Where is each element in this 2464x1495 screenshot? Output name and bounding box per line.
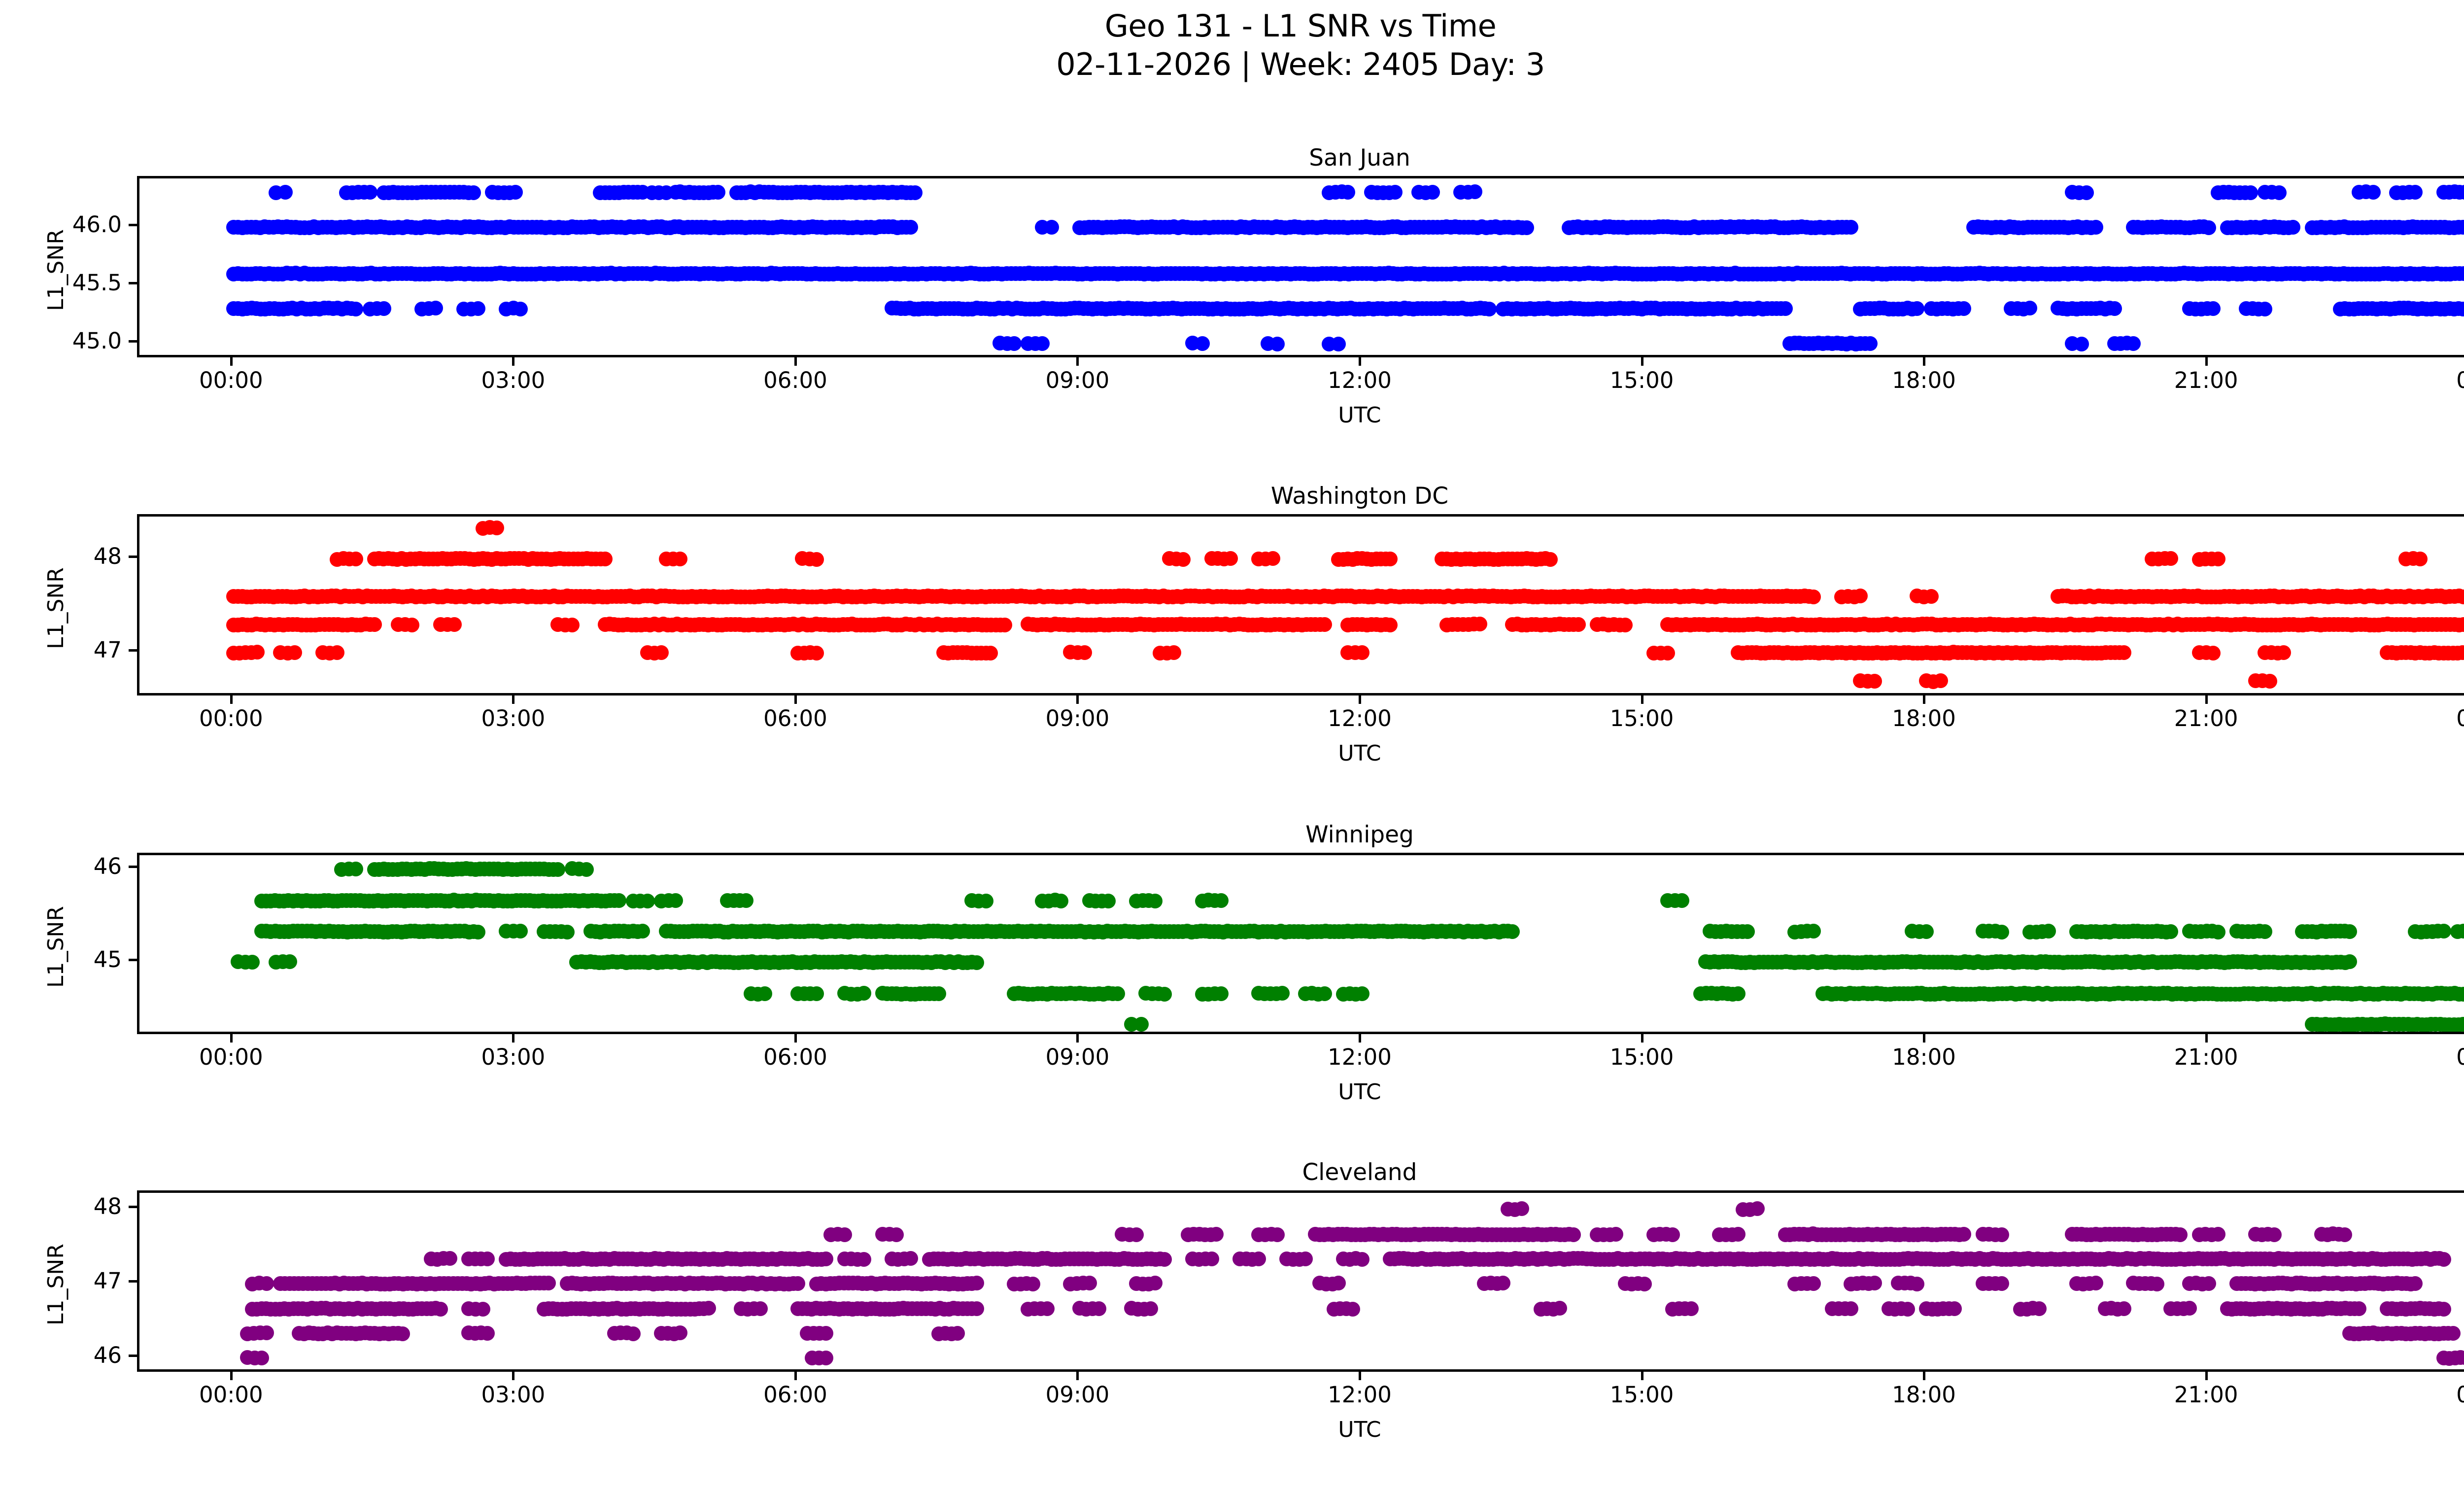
- data-point: [2117, 1301, 2131, 1316]
- x-tick-mark: [1641, 1034, 1643, 1043]
- data-point: [1331, 1276, 1346, 1290]
- data-point: [640, 894, 655, 908]
- data-point: [1806, 1276, 1821, 1291]
- x-tick-label: 15:00: [1543, 707, 1741, 730]
- data-point: [903, 220, 918, 235]
- x-axis-label: UTC: [137, 1079, 2464, 1105]
- data-point: [1472, 617, 1487, 631]
- data-point: [2408, 1276, 2423, 1291]
- x-tick-label: 03:00: [414, 369, 612, 391]
- data-point: [1209, 1227, 1224, 1242]
- data-point: [1731, 986, 1745, 1001]
- x-tick-label: 00:00: [2390, 369, 2464, 391]
- y-axis-label: L1_SNR: [43, 567, 68, 649]
- data-point: [1675, 893, 1689, 908]
- x-tick-mark: [1076, 1034, 1079, 1043]
- x-tick-mark: [794, 357, 797, 366]
- data-point: [1665, 1227, 1680, 1242]
- x-tick-mark: [1359, 357, 1361, 366]
- suptitle-line-1: Geo 131 - L1 SNR vs Time: [0, 7, 2464, 45]
- x-tick-mark: [1923, 357, 1925, 366]
- plot-area: [137, 1190, 2464, 1372]
- data-point: [1778, 301, 1793, 316]
- y-tick-label: 46.0: [23, 213, 122, 236]
- data-point: [443, 1251, 457, 1266]
- subplot-title: Winnipeg: [137, 822, 2464, 848]
- data-point: [1900, 1302, 1915, 1317]
- data-point: [1223, 551, 1238, 566]
- data-point: [2436, 1302, 2451, 1317]
- data-point: [2211, 552, 2225, 566]
- x-tick-mark: [230, 695, 233, 704]
- data-point: [1844, 1301, 1858, 1316]
- data-point: [471, 301, 485, 316]
- data-point: [598, 552, 613, 566]
- y-tick-mark: [129, 556, 137, 558]
- plot-area: [137, 853, 2464, 1034]
- x-tick-mark: [512, 1372, 514, 1380]
- data-point: [2262, 674, 2277, 689]
- x-tick-mark: [1359, 1372, 1361, 1380]
- y-tick-mark: [129, 224, 137, 226]
- data-point: [330, 645, 344, 660]
- data-point: [513, 924, 528, 939]
- x-tick-label: 00:00: [2390, 1384, 2464, 1406]
- data-point: [757, 986, 772, 1001]
- data-point: [1251, 1252, 1266, 1266]
- data-point: [908, 185, 923, 200]
- data-point: [1195, 336, 1210, 351]
- x-tick-label: 00:00: [2390, 1046, 2464, 1068]
- x-tick-mark: [230, 1372, 233, 1380]
- data-point: [1157, 1252, 1172, 1267]
- data-point: [405, 618, 419, 632]
- data-point: [489, 521, 504, 535]
- data-point: [612, 893, 626, 908]
- subplot-title: Cleveland: [137, 1160, 2464, 1185]
- data-point: [287, 645, 302, 660]
- data-point: [1275, 986, 1290, 1001]
- data-point: [282, 954, 297, 969]
- data-point: [471, 925, 485, 939]
- x-tick-label: 03:00: [414, 1046, 612, 1068]
- data-point: [1994, 1276, 2009, 1291]
- subplot-title: Washington DC: [137, 484, 2464, 509]
- x-tick-mark: [2205, 1034, 2208, 1043]
- x-tick-label: 18:00: [1825, 1046, 2022, 1068]
- data-point: [2088, 220, 2103, 235]
- y-tick-mark: [129, 866, 137, 868]
- y-tick-label: 46: [23, 1344, 122, 1366]
- x-tick-label: 21:00: [2108, 1046, 2305, 1068]
- x-tick-label: 00:00: [133, 369, 330, 391]
- data-point: [2163, 924, 2178, 939]
- data-point: [2079, 185, 2094, 200]
- data-point: [1543, 552, 1558, 567]
- data-point: [428, 301, 443, 315]
- data-point: [2276, 645, 2291, 660]
- data-point: [2352, 1301, 2366, 1316]
- data-point: [480, 1326, 495, 1341]
- data-point: [1566, 1227, 1581, 1242]
- data-point: [1740, 924, 1755, 939]
- data-point: [1924, 589, 1939, 604]
- data-point: [2446, 1326, 2461, 1341]
- x-tick-label: 09:00: [979, 369, 1176, 391]
- data-point: [1355, 986, 1369, 1001]
- data-point: [278, 185, 293, 200]
- y-tick-label: 46: [23, 855, 122, 877]
- data-point: [931, 986, 946, 1001]
- data-point: [259, 1325, 274, 1340]
- y-tick-mark: [129, 282, 137, 284]
- data-point: [1731, 1227, 1745, 1242]
- data-point: [1110, 986, 1125, 1001]
- data-point: [1007, 336, 1022, 351]
- y-tick-label: 48: [23, 545, 122, 567]
- data-point: [1383, 618, 1398, 632]
- x-tick-label: 06:00: [697, 1384, 894, 1406]
- data-point: [819, 1252, 833, 1266]
- data-point: [1054, 894, 1068, 908]
- suptitle-line-2: 02-11-2026 | Week: 2405 Day: 3: [0, 45, 2464, 84]
- data-point: [2436, 924, 2451, 939]
- x-tick-label: 00:00: [133, 1046, 330, 1068]
- data-point: [1519, 220, 1534, 235]
- x-tick-label: 21:00: [2108, 369, 2305, 391]
- x-tick-label: 15:00: [1543, 369, 1741, 391]
- data-point: [889, 1227, 904, 1242]
- data-point: [1129, 1227, 1144, 1242]
- data-point: [1867, 674, 1882, 689]
- data-point: [1994, 925, 2009, 939]
- data-point: [1660, 646, 1675, 661]
- data-point: [2201, 220, 2216, 235]
- data-point: [1143, 1301, 1158, 1316]
- x-tick-label: 06:00: [697, 707, 894, 730]
- x-tick-label: 21:00: [2108, 707, 2305, 730]
- x-tick-label: 06:00: [697, 369, 894, 391]
- data-point: [1863, 336, 1878, 351]
- data-point: [2342, 924, 2357, 939]
- data-point: [1166, 645, 1181, 660]
- data-point: [626, 1326, 641, 1341]
- y-tick-mark: [129, 1280, 137, 1283]
- data-point: [1844, 220, 1858, 235]
- data-point: [1317, 617, 1332, 632]
- data-point: [2150, 1277, 2164, 1291]
- x-tick-label: 15:00: [1543, 1384, 1741, 1406]
- data-point: [2088, 1276, 2103, 1290]
- data-point: [1214, 986, 1229, 1001]
- data-point: [2408, 185, 2423, 200]
- data-point: [969, 955, 984, 970]
- data-point: [1082, 1276, 1097, 1290]
- x-tick-label: 00:00: [133, 1384, 330, 1406]
- data-point: [2258, 924, 2272, 939]
- x-tick-mark: [1641, 357, 1643, 366]
- data-point: [950, 1326, 965, 1341]
- data-point: [1618, 618, 1633, 632]
- data-point: [2243, 185, 2258, 200]
- data-point: [1910, 301, 1924, 316]
- data-point: [1750, 1201, 1765, 1216]
- data-point: [1867, 1276, 1882, 1290]
- data-point: [979, 894, 993, 908]
- data-point: [1355, 1252, 1369, 1267]
- y-tick-label: 45: [23, 948, 122, 971]
- data-point: [565, 618, 580, 632]
- data-point: [560, 925, 575, 939]
- data-point: [348, 552, 363, 566]
- x-tick-label: 12:00: [1261, 369, 1458, 391]
- data-point: [903, 1251, 918, 1266]
- data-point: [2173, 1227, 2188, 1242]
- data-point: [711, 185, 725, 200]
- y-axis-label: L1_SNR: [43, 1244, 68, 1325]
- x-tick-label: 12:00: [1261, 1384, 1458, 1406]
- data-point: [701, 1301, 716, 1316]
- data-point: [2206, 301, 2221, 316]
- data-point: [635, 924, 650, 939]
- x-tick-label: 12:00: [1261, 1046, 1458, 1068]
- data-point: [245, 955, 260, 970]
- data-point: [579, 862, 594, 877]
- data-point: [348, 302, 363, 316]
- data-point: [480, 1252, 495, 1266]
- data-point: [856, 1252, 871, 1267]
- data-point: [1468, 184, 1482, 199]
- figure-canvas: Geo 131 - L1 SNR vs Time 02-11-2026 | We…: [0, 0, 2464, 1495]
- data-point: [541, 1276, 556, 1290]
- data-point: [2126, 336, 2141, 351]
- data-point: [1077, 645, 1092, 660]
- data-point: [1806, 590, 1821, 604]
- x-tick-mark: [1359, 695, 1361, 704]
- data-point: [809, 986, 824, 1001]
- data-point: [1157, 987, 1172, 1002]
- x-tick-mark: [1076, 1372, 1079, 1380]
- data-point: [983, 646, 998, 661]
- data-point: [1092, 1301, 1106, 1316]
- data-point: [1956, 301, 1971, 316]
- data-point: [1134, 1017, 1149, 1032]
- y-tick-label: 45.5: [23, 272, 122, 294]
- x-tick-label: 18:00: [1825, 369, 2022, 391]
- data-point: [1355, 645, 1369, 660]
- data-point: [376, 301, 391, 316]
- data-point: [2117, 645, 2131, 660]
- y-tick-label: 47: [23, 639, 122, 661]
- data-point: [1956, 1227, 1971, 1242]
- data-point: [1035, 336, 1050, 351]
- y-tick-label: 48: [23, 1195, 122, 1217]
- plot-area: [137, 176, 2464, 357]
- data-point: [476, 1302, 490, 1317]
- y-tick-mark: [129, 649, 137, 652]
- data-point: [856, 986, 871, 1001]
- data-point: [1317, 986, 1332, 1001]
- y-axis-label: L1_SNR: [43, 906, 68, 988]
- data-point: [997, 618, 1012, 632]
- data-point: [1044, 220, 1059, 235]
- x-tick-mark: [1923, 695, 1925, 704]
- data-point: [2413, 552, 2428, 566]
- data-point: [1919, 924, 1934, 939]
- data-point: [466, 185, 481, 200]
- data-point: [2366, 185, 2381, 200]
- data-point: [837, 1227, 852, 1242]
- data-point: [1298, 1252, 1313, 1266]
- data-point: [2201, 1276, 2216, 1291]
- data-point: [1331, 337, 1346, 351]
- data-point: [2342, 954, 2357, 969]
- data-point: [969, 1301, 984, 1316]
- data-point: [819, 1351, 833, 1365]
- x-tick-label: 09:00: [979, 707, 1176, 730]
- data-point: [1482, 302, 1497, 316]
- x-tick-mark: [1359, 1034, 1361, 1043]
- x-tick-mark: [1076, 357, 1079, 366]
- data-point: [668, 893, 683, 908]
- data-point: [433, 1302, 448, 1317]
- data-point: [1214, 893, 1229, 908]
- x-tick-label: 18:00: [1825, 707, 2022, 730]
- data-point: [1204, 1252, 1219, 1266]
- data-point: [2182, 1301, 2197, 1316]
- x-tick-mark: [2205, 695, 2208, 704]
- x-axis-label: UTC: [137, 1417, 2464, 1442]
- data-point: [2337, 1227, 2352, 1242]
- subplot-title: San Juan: [137, 145, 2464, 171]
- data-point: [1148, 894, 1163, 908]
- x-tick-label: 09:00: [979, 1046, 1176, 1068]
- x-tick-mark: [794, 1372, 797, 1380]
- data-point: [367, 617, 382, 632]
- data-point: [1608, 1227, 1623, 1242]
- y-tick-mark: [129, 340, 137, 343]
- data-point: [1910, 1277, 1924, 1291]
- x-tick-mark: [2205, 357, 2208, 366]
- data-point: [2211, 1227, 2225, 1242]
- data-point: [2163, 551, 2178, 566]
- data-point: [1514, 1201, 1529, 1216]
- data-point: [250, 645, 265, 660]
- data-point: [1026, 1277, 1040, 1291]
- x-tick-mark: [1923, 1034, 1925, 1043]
- data-point: [790, 1276, 805, 1291]
- data-point: [1040, 1301, 1055, 1316]
- data-point: [2272, 185, 2287, 200]
- data-point: [513, 302, 528, 316]
- x-tick-label: 09:00: [979, 1384, 1176, 1406]
- x-tick-label: 12:00: [1261, 707, 1458, 730]
- data-point: [508, 185, 523, 200]
- figure-suptitle: Geo 131 - L1 SNR vs Time 02-11-2026 | We…: [0, 7, 2464, 84]
- data-point: [654, 645, 669, 660]
- data-point: [673, 1325, 687, 1340]
- data-point: [809, 552, 824, 567]
- data-point: [1176, 552, 1191, 567]
- x-tick-mark: [794, 695, 797, 704]
- data-point: [2032, 1301, 2047, 1316]
- data-point: [1101, 894, 1116, 908]
- y-tick-label: 47: [23, 1270, 122, 1292]
- data-point: [259, 1276, 274, 1291]
- data-point: [395, 1326, 410, 1341]
- data-point: [1571, 617, 1586, 632]
- x-tick-mark: [512, 1034, 514, 1043]
- data-point: [348, 862, 363, 876]
- y-tick-label: 45.0: [23, 330, 122, 352]
- data-point: [1994, 1227, 2009, 1242]
- x-tick-mark: [1641, 695, 1643, 704]
- x-tick-mark: [2205, 1372, 2208, 1380]
- x-tick-label: 15:00: [1543, 1046, 1741, 1068]
- data-point: [447, 617, 462, 632]
- data-point: [1383, 552, 1398, 566]
- x-tick-label: 03:00: [414, 707, 612, 730]
- data-point: [1806, 924, 1821, 939]
- x-tick-mark: [230, 1034, 233, 1043]
- data-point: [2206, 646, 2221, 661]
- data-point: [1388, 185, 1403, 200]
- x-tick-mark: [794, 1034, 797, 1043]
- x-tick-mark: [512, 357, 514, 366]
- data-point: [2258, 302, 2272, 316]
- data-point: [1496, 1276, 1510, 1290]
- data-point: [1340, 185, 1355, 200]
- data-point: [2267, 1227, 2282, 1242]
- x-tick-label: 03:00: [414, 1384, 612, 1406]
- data-point: [2211, 925, 2225, 939]
- data-point: [2107, 301, 2122, 316]
- x-tick-label: 21:00: [2108, 1384, 2305, 1406]
- y-tick-mark: [129, 1206, 137, 1208]
- data-point: [1345, 1302, 1360, 1317]
- data-point: [1505, 924, 1520, 939]
- data-point: [1270, 1227, 1285, 1242]
- data-point: [1266, 551, 1280, 566]
- data-point: [809, 646, 824, 661]
- data-point: [673, 552, 687, 566]
- x-axis-label: UTC: [137, 741, 2464, 766]
- data-point: [2286, 220, 2300, 235]
- data-point: [1853, 589, 1868, 603]
- data-point: [2022, 301, 2037, 315]
- plot-area: [137, 514, 2464, 695]
- data-point: [1270, 337, 1285, 351]
- data-point: [254, 1351, 269, 1365]
- data-point: [550, 862, 565, 877]
- x-tick-mark: [230, 357, 233, 366]
- y-tick-mark: [129, 959, 137, 961]
- x-axis-label: UTC: [137, 403, 2464, 428]
- x-tick-mark: [512, 695, 514, 704]
- data-point: [363, 185, 377, 200]
- y-axis-label: L1_SNR: [43, 229, 68, 311]
- y-tick-mark: [129, 1355, 137, 1357]
- x-tick-label: 00:00: [2390, 707, 2464, 730]
- data-point: [1425, 185, 1440, 200]
- data-point: [1684, 1301, 1699, 1316]
- data-point: [969, 1276, 984, 1290]
- data-point: [2074, 337, 2089, 351]
- x-tick-mark: [1641, 1372, 1643, 1380]
- data-point: [1637, 1277, 1652, 1291]
- data-point: [819, 1326, 833, 1341]
- x-tick-label: 00:00: [133, 707, 330, 730]
